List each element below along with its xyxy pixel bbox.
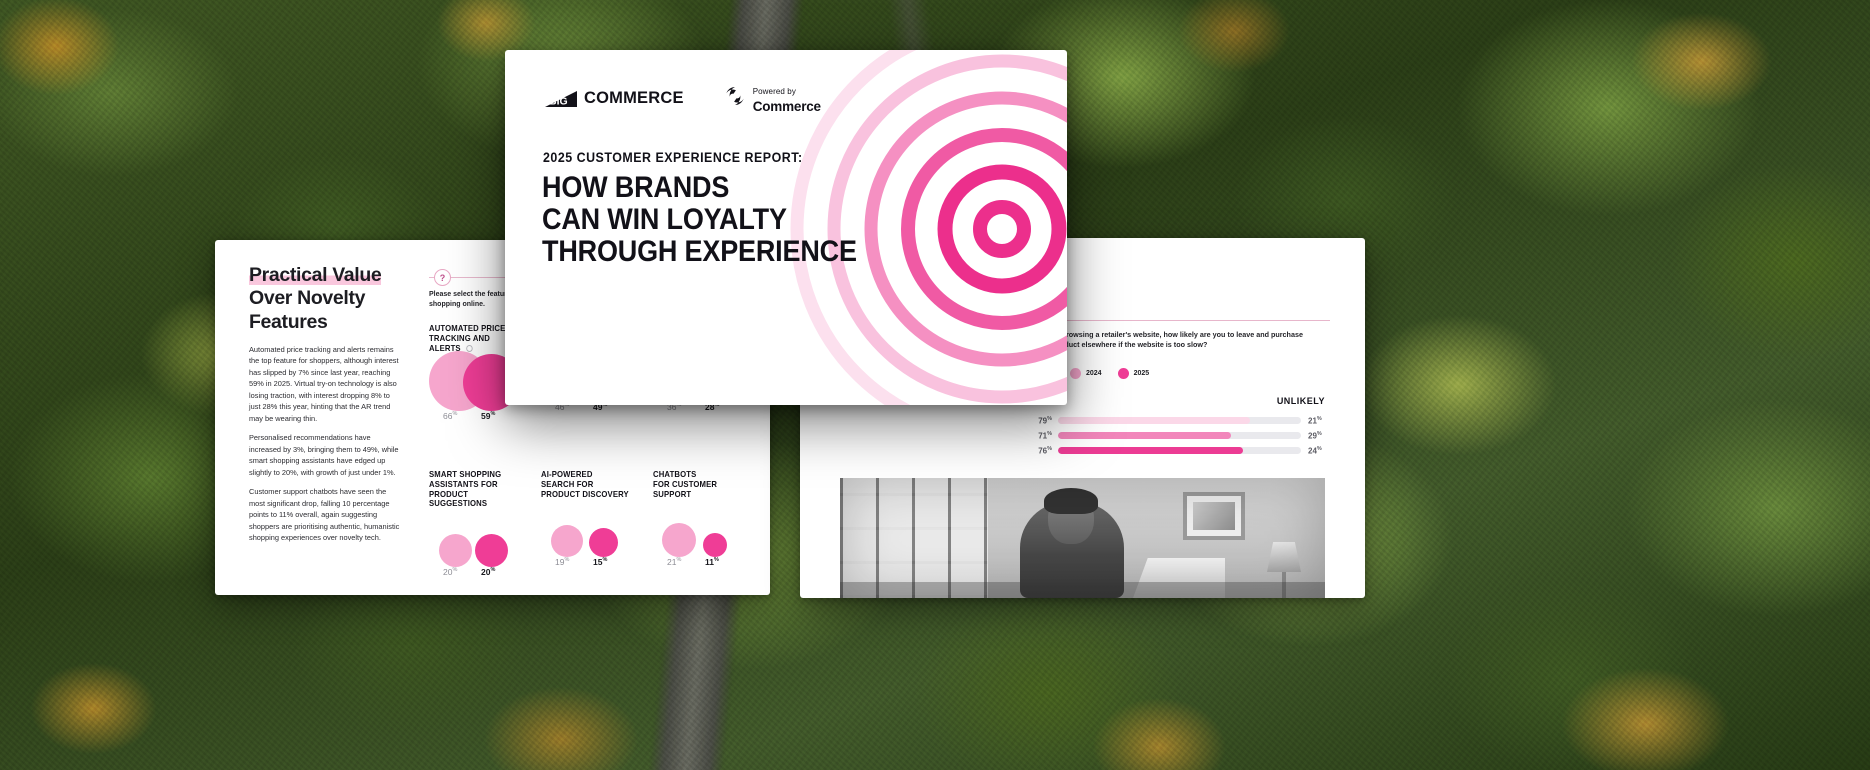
horizontal-bar-chart: 79%21%71%29%76%24% <box>1028 413 1333 458</box>
bubble-value-2025: 11% <box>705 557 719 567</box>
bubble-label: AI-POWEREDSEARCH FORPRODUCT DISCOVERY <box>541 470 638 499</box>
powered-by-commerce-logo: Powered by Commerce <box>724 82 821 116</box>
bar-track <box>1058 432 1301 439</box>
commerce-label: Commerce <box>753 99 821 114</box>
left-slide-body: Automated price tracking and alerts rema… <box>249 344 401 552</box>
bubble-2024 <box>551 525 583 557</box>
right-survey-question: When browsing a retailer's website, how … <box>1040 330 1315 351</box>
question-mark-icon: ? <box>434 269 451 286</box>
paragraph-2: Personalised recommendations have increa… <box>249 432 401 478</box>
cover-eyebrow: 2025 CUSTOMER EXPERIENCE REPORT: <box>543 150 803 165</box>
bubble-value-2024: 20% <box>443 567 457 577</box>
legend-label-2025: 2025 <box>1134 370 1150 377</box>
bubble-pair <box>541 505 645 557</box>
bubble-label: CHATBOTSFOR CUSTOMERSUPPORT <box>653 470 750 499</box>
bar-value-left: 76% <box>1028 446 1058 456</box>
bar-value-right: 29% <box>1301 431 1333 441</box>
legend-dot-2024 <box>1070 368 1081 379</box>
bubble-value-2024: 66% <box>443 411 457 421</box>
paragraph-1: Automated price tracking and alerts rema… <box>249 344 401 424</box>
bubble-label: SMART SHOPPINGASSISTANTS FORPRODUCT SUGG… <box>429 470 526 509</box>
axis-label-unlikely: UNLIKELY <box>1277 396 1325 406</box>
bubble-group: SMART SHOPPINGASSISTANTS FORPRODUCT SUGG… <box>429 470 533 581</box>
bar-track <box>1058 447 1301 454</box>
bubble-values: 21%11% <box>653 557 757 571</box>
bubble-2024 <box>439 534 472 567</box>
heading-line-3: Features <box>249 311 328 333</box>
bubble-2025 <box>589 528 618 557</box>
legend-label-2024: 2024 <box>1086 370 1102 377</box>
svg-text:BIG: BIG <box>549 95 568 107</box>
bar-value-right: 21% <box>1301 416 1333 426</box>
bubble-2024 <box>662 523 696 557</box>
heading-line-2: Over Novelty <box>249 287 365 309</box>
left-slide-heading: Practical Value Over Novelty Features <box>249 264 419 334</box>
bubble-group: CHATBOTSFOR CUSTOMERSUPPORT21%11% <box>653 470 757 571</box>
bubble-pair <box>653 505 757 557</box>
commerce-swirl-icon <box>724 85 746 112</box>
legend-dot-2025 <box>1118 368 1129 379</box>
bigcommerce-logo: BIG COMMERCE <box>543 89 684 109</box>
bubble-value-2025: 59% <box>481 411 495 421</box>
slide-cover[interactable]: BIG COMMERCE Powered by Commerce 2025 CU… <box>505 50 1067 405</box>
chart-legend: 2024 2025 <box>1070 368 1149 379</box>
bubble-pair <box>429 515 533 567</box>
powered-by-label: Powered by <box>753 87 796 96</box>
bar-fill <box>1058 417 1250 424</box>
cover-title: HOW BRANDS CAN WIN LOYALTY THROUGH EXPER… <box>542 172 857 268</box>
logo-row: BIG COMMERCE Powered by Commerce <box>543 82 821 116</box>
bar-fill <box>1058 447 1243 454</box>
bubble-group: AI-POWEREDSEARCH FORPRODUCT DISCOVERY19%… <box>541 470 645 571</box>
bar-row: 71%29% <box>1028 428 1333 443</box>
bar-value-left: 71% <box>1028 431 1058 441</box>
bar-row: 79%21% <box>1028 413 1333 428</box>
bubble-values: 66%59% <box>429 411 533 425</box>
bigcommerce-mark-icon: BIG <box>543 89 583 109</box>
bar-row: 76%24% <box>1028 443 1333 458</box>
bubble-2025 <box>475 534 508 567</box>
cover-title-line-2: CAN WIN LOYALTY <box>542 204 857 236</box>
heading-highlight: Practical Value <box>249 264 381 286</box>
cover-title-line-1: HOW BRANDS <box>542 172 857 204</box>
legend-item-2024: 2024 <box>1070 368 1102 379</box>
bubble-value-2025: 20% <box>481 567 495 577</box>
paragraph-3: Customer support chatbots have seen the … <box>249 486 401 543</box>
bubble-values: 20%20% <box>429 567 533 581</box>
bar-value-left: 79% <box>1028 416 1058 426</box>
bigcommerce-wordmark: COMMERCE <box>584 89 684 108</box>
bubble-value-2024: 19% <box>555 557 569 567</box>
bar-track <box>1058 417 1301 424</box>
bubble-values: 19%15% <box>541 557 645 571</box>
cover-title-line-3: THROUGH EXPERIENCE <box>542 236 857 268</box>
bubble-2025 <box>703 533 727 557</box>
legend-item-2025: 2025 <box>1118 368 1150 379</box>
office-photo <box>840 478 1325 598</box>
info-icon[interactable] <box>466 345 473 352</box>
bar-fill <box>1058 432 1231 439</box>
bar-value-right: 24% <box>1301 446 1333 456</box>
bubble-value-2024: 21% <box>667 557 681 567</box>
bubble-value-2025: 15% <box>593 557 607 567</box>
